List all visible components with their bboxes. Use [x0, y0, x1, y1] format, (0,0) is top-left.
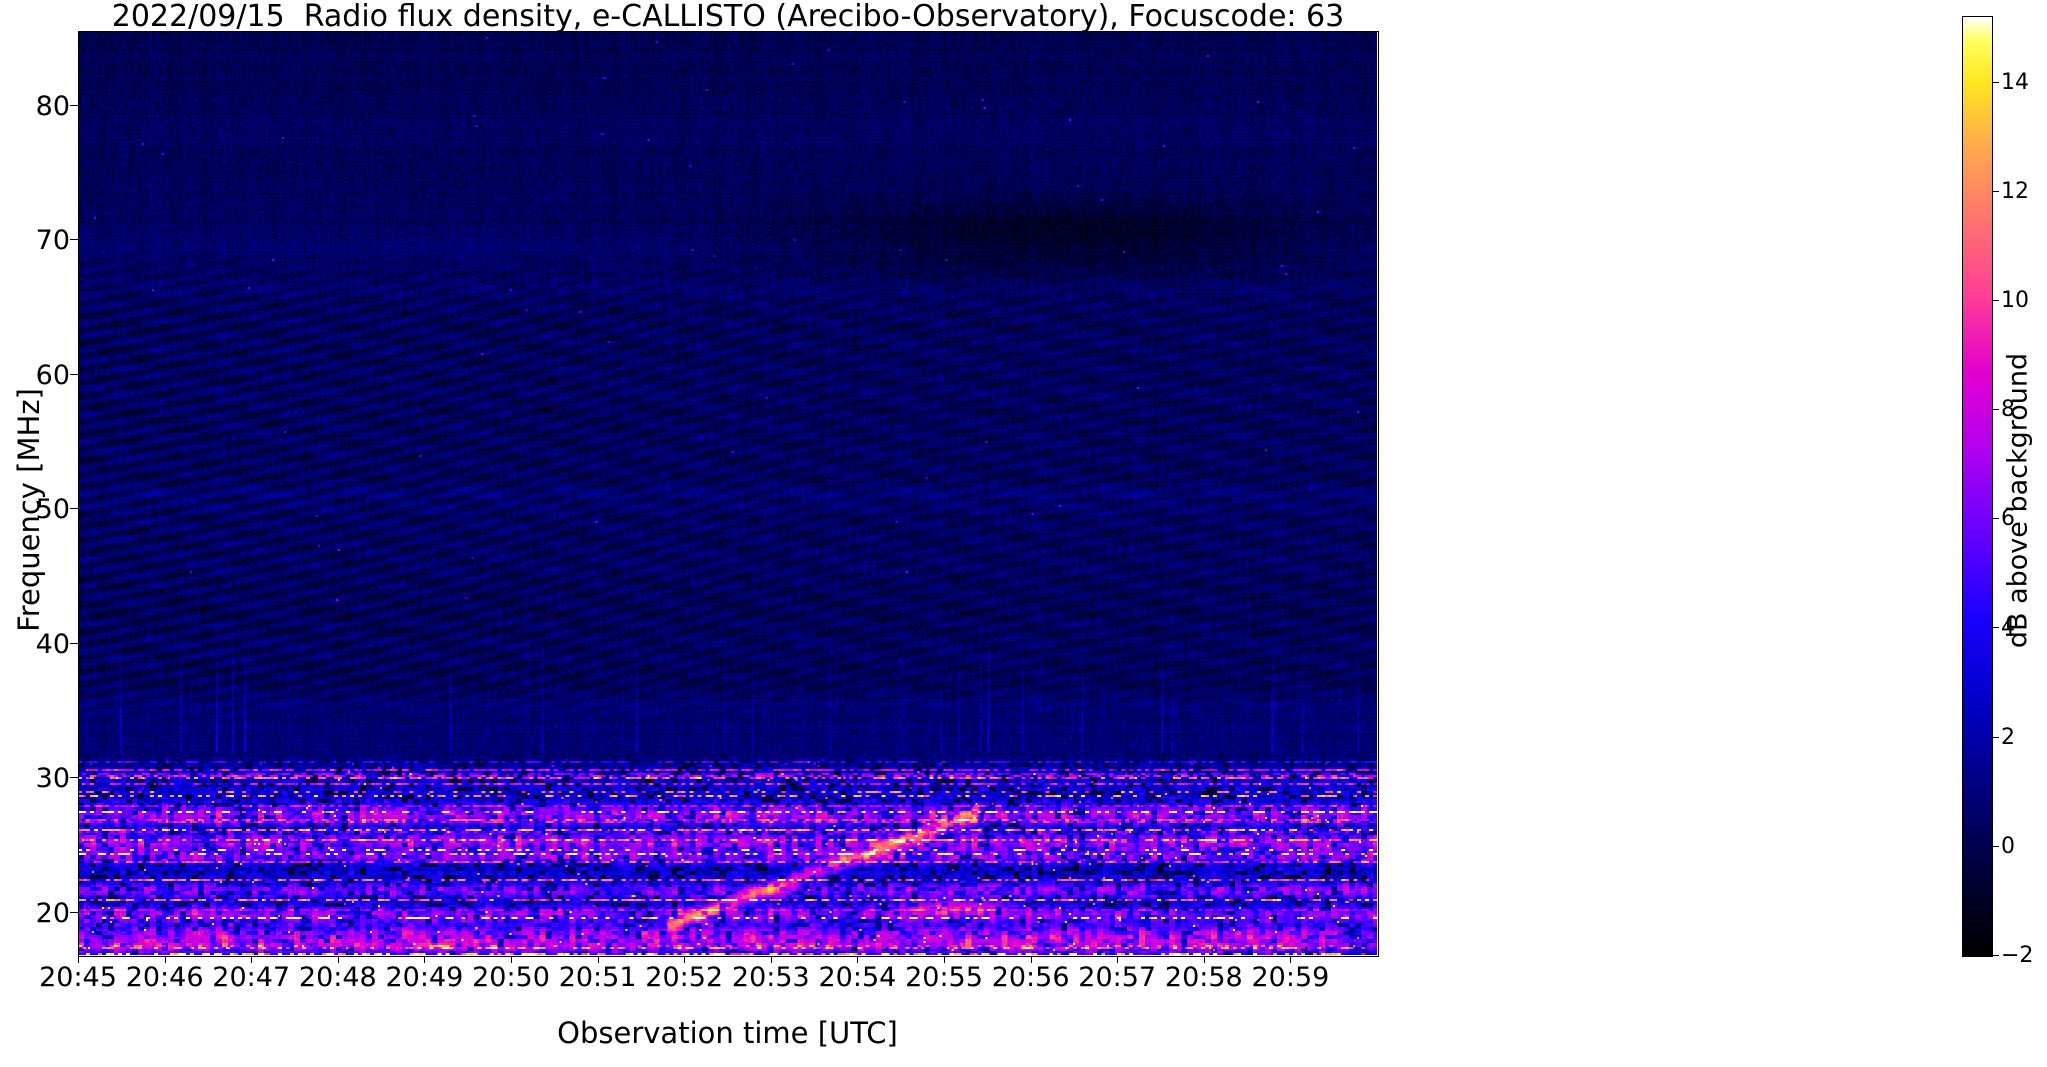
y-tick-mark [70, 374, 78, 375]
colorbar-tick-mark [1992, 518, 1999, 519]
x-axis-tick-labels: 20:4520:4620:4720:4820:4920:5020:5120:52… [78, 962, 1377, 1002]
spectrogram-plot-area[interactable] [78, 31, 1377, 955]
y-tick-mark [70, 508, 78, 509]
x-axis-label: Observation time [UTC] [78, 1016, 1377, 1050]
colorbar-tick-mark [1992, 82, 1999, 83]
chart-title: 2022/09/15 Radio flux density, e-CALLIST… [78, 2, 1378, 32]
colorbar-tick-mark [1992, 300, 1999, 301]
y-tick-mark [70, 777, 78, 778]
colorbar[interactable] [1962, 16, 1993, 957]
spectrogram-figure: 2022/09/15 Radio flux density, e-CALLIST… [0, 0, 2047, 1067]
colorbar-gradient [1963, 17, 1992, 956]
colorbar-tick-mark [1992, 846, 1999, 847]
colorbar-tick-mark [1992, 955, 1999, 956]
y-axis-label: Frequency [MHz] [12, 48, 46, 972]
colorbar-tick-mark [1992, 191, 1999, 192]
colorbar-tick-mark [1992, 737, 1999, 738]
y-tick-mark [70, 239, 78, 240]
y-tick-mark [70, 643, 78, 644]
colorbar-tick-mark [1992, 627, 1999, 628]
spectrogram-image [78, 31, 1377, 955]
colorbar-tick-mark [1992, 409, 1999, 410]
y-tick-mark [70, 912, 78, 913]
colorbar-label: dB above background [2003, 51, 2034, 951]
x-tick-label: 20:59 [1220, 962, 1360, 993]
y-tick-mark [70, 105, 78, 106]
